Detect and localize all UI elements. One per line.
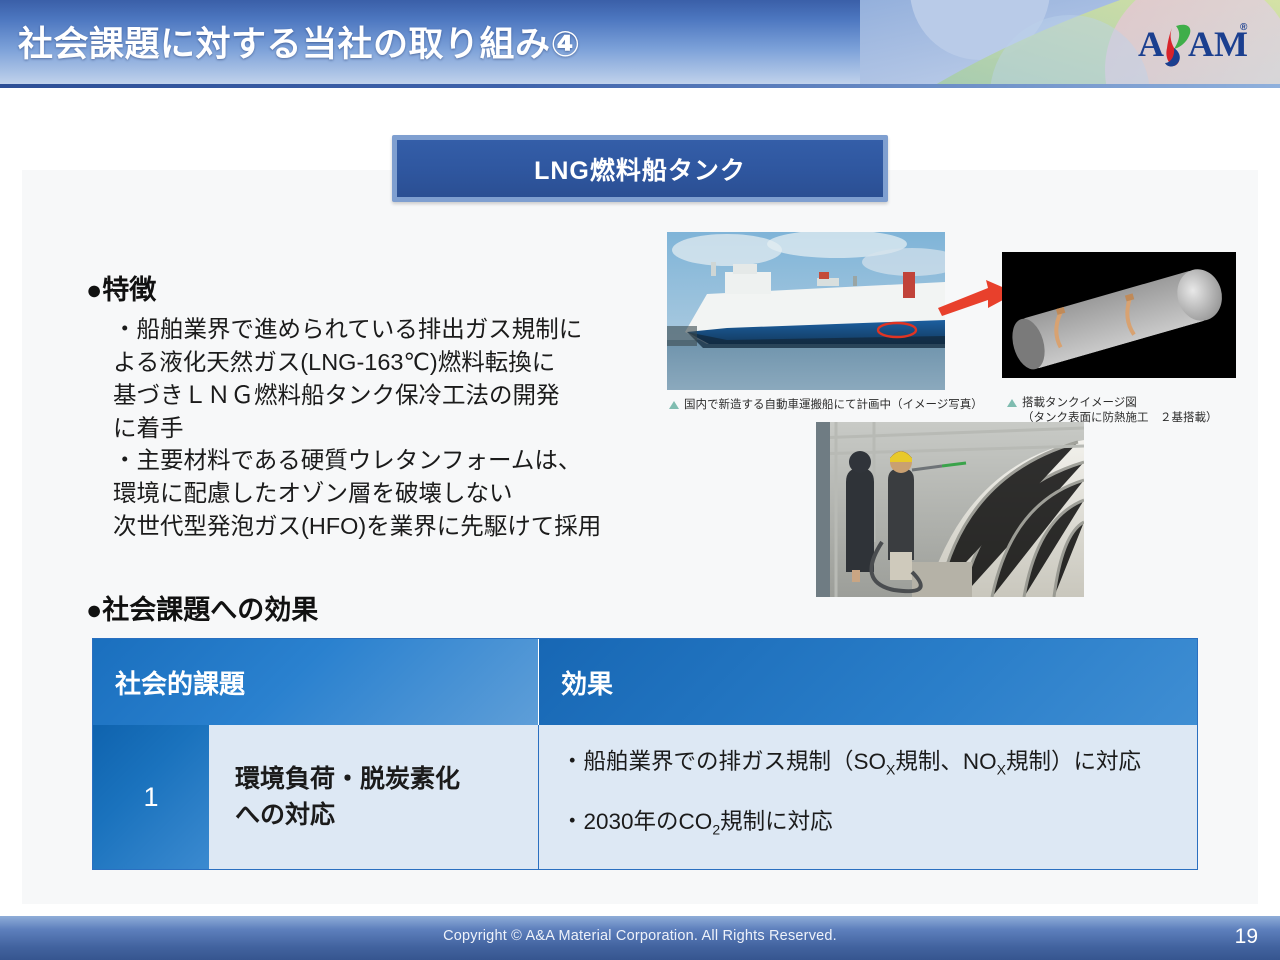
effect-line-2: ・2030年のCO2規制に対応 bbox=[561, 807, 1197, 845]
ship-photo-caption: 国内で新造する自動車運搬船にて計画中（イメージ写真） bbox=[684, 398, 983, 413]
registered-mark: ® bbox=[1240, 22, 1248, 33]
slide: 社会課題に対する当社の取り組み④ A AM ® LNG燃料船タンク ●特徴 ・船… bbox=[0, 0, 1280, 960]
caption-marker-icon-2 bbox=[1007, 399, 1017, 407]
effect-line-1: ・船舶業界での排ガス規制（SOX規制、NOX規制）に対応 bbox=[561, 747, 1197, 785]
page-number: 19 bbox=[1235, 925, 1258, 949]
construction-work-photo bbox=[816, 422, 1084, 597]
table-row: 1 環境負荷・脱炭素化 への対応 ・船舶業界での排ガス規制（SOX規制、NOX規… bbox=[93, 725, 1197, 869]
header-underline bbox=[0, 84, 1280, 88]
table-col-effect: 効果 bbox=[539, 639, 1197, 725]
row-issue-text: 環境負荷・脱炭素化 への対応 bbox=[235, 761, 460, 833]
page-title: 社会課題に対する当社の取り組み④ bbox=[18, 16, 581, 67]
row-effect-cell: ・船舶業界での排ガス規制（SOX規制、NOX規制）に対応 ・2030年のCO2規… bbox=[539, 725, 1197, 869]
table-col-issue: 社会的課題 bbox=[93, 639, 539, 725]
company-logo: A AM ® bbox=[1136, 18, 1256, 70]
slide-header: 社会課題に対する当社の取り組み④ A AM ® bbox=[0, 0, 1280, 88]
row-issue-cell: 環境負荷・脱炭素化 への対応 bbox=[209, 725, 539, 869]
ship-photo bbox=[667, 232, 945, 390]
table-header-row: 社会的課題 効果 bbox=[93, 639, 1197, 725]
svg-text:AM: AM bbox=[1188, 24, 1248, 64]
row-number: 1 bbox=[93, 725, 209, 869]
section-badge-inner: LNG燃料船タンク bbox=[397, 140, 883, 197]
feature-bullet-2: ・主要材料である硬質ウレタンフォームは、 環境に配慮したオゾン層を破壊しない 次… bbox=[113, 444, 601, 543]
section-badge-label: LNG燃料船タンク bbox=[534, 151, 746, 187]
svg-text:A: A bbox=[1138, 24, 1164, 64]
effect-table: 社会的課題 効果 1 環境負荷・脱炭素化 への対応 ・船舶業界での排ガス規制（S… bbox=[92, 638, 1198, 870]
tank-render-photo bbox=[1002, 252, 1236, 378]
features-heading: ●特徴 bbox=[86, 268, 156, 307]
caption-marker-icon-1 bbox=[669, 401, 679, 409]
feature-bullet-1: ・船舶業界で進められている排出ガス規制に よる液化天然ガス(LNG-163℃)燃… bbox=[113, 313, 582, 445]
slide-footer: Copyright © A&A Material Corporation. Al… bbox=[0, 916, 1280, 960]
copyright-text: Copyright © A&A Material Corporation. Al… bbox=[0, 928, 1280, 944]
section-badge: LNG燃料船タンク bbox=[392, 135, 888, 202]
effect-heading: ●社会課題への効果 bbox=[86, 588, 318, 627]
